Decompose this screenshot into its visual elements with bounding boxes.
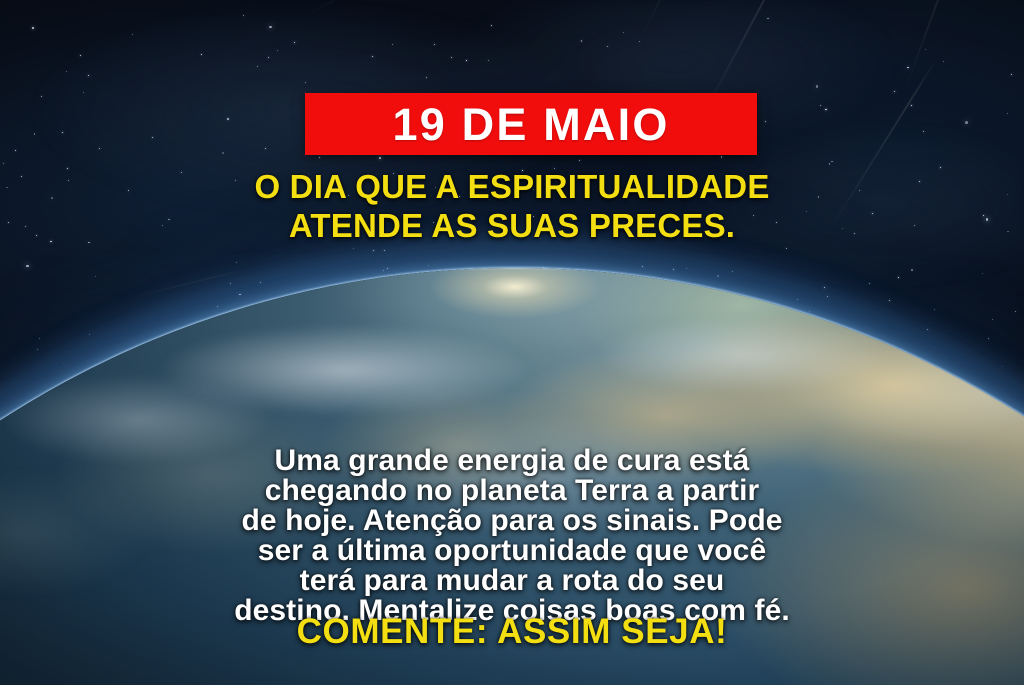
headline-line-1: O DIA QUE A ESPIRITUALIDADE <box>0 168 1024 207</box>
call-to-action: COMENTE: ASSIM SEJA! <box>0 613 1024 652</box>
body-line-5: terá para mudar a rota do seu <box>62 566 962 596</box>
body-line-1: Uma grande energia de cura está <box>62 446 962 476</box>
call-to-action-label: COMENTE: ASSIM SEJA! <box>297 612 728 651</box>
poster-content: 19 DE MAIO O DIA QUE A ESPIRITUALIDADE A… <box>0 0 1024 685</box>
date-banner-label: 19 DE MAIO <box>392 102 669 147</box>
headline-line-2: ATENDE AS SUAS PRECES. <box>0 207 1024 246</box>
date-banner: 19 DE MAIO <box>305 93 757 155</box>
body-copy: Uma grande energia de cura está chegando… <box>62 446 962 626</box>
body-line-3: de hoje. Atenção para os sinais. Pode <box>62 506 962 536</box>
body-line-2: chegando no planeta Terra a partir <box>62 476 962 506</box>
body-line-4: ser a última oportunidade que você <box>62 536 962 566</box>
headline: O DIA QUE A ESPIRITUALIDADE ATENDE AS SU… <box>0 168 1024 246</box>
poster-canvas: 19 DE MAIO O DIA QUE A ESPIRITUALIDADE A… <box>0 0 1024 685</box>
